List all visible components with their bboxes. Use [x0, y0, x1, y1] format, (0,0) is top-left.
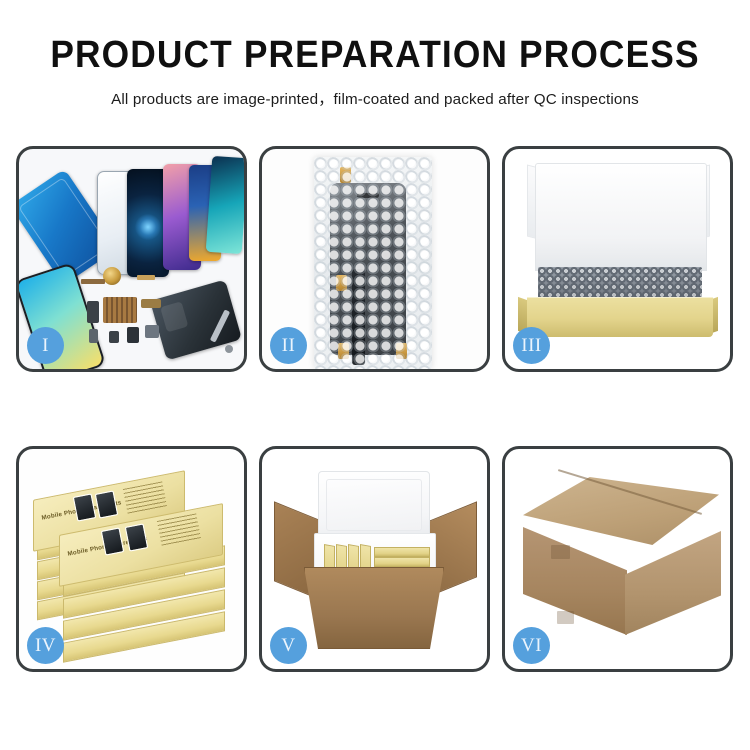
wrapped-flex-cable	[352, 269, 365, 365]
carton-tab-lower	[557, 611, 574, 624]
carton-face-right	[625, 531, 721, 635]
carton-tab-upper	[551, 545, 570, 559]
process-step-5[interactable]: V	[259, 446, 490, 672]
page-title: PRODUCT PREPARATION PROCESS	[26, 36, 724, 76]
carton-face-left	[523, 527, 627, 635]
step-badge-5: V	[270, 627, 307, 664]
step-badge-3: III	[513, 327, 550, 364]
box-lid-back	[535, 163, 707, 271]
process-step-2[interactable]: II	[259, 146, 490, 372]
bubble-wrap-bag	[314, 157, 432, 369]
gold-tab-bottom-right	[396, 343, 407, 359]
carton-body	[304, 567, 444, 649]
phone-display-teal	[206, 156, 244, 254]
page-header: PRODUCT PREPARATION PROCESS All products…	[0, 0, 750, 109]
gold-tab-bottom-left	[338, 343, 349, 359]
gold-tab-top	[340, 167, 351, 183]
flex-cable-1	[87, 301, 99, 323]
foam-box-lid	[318, 471, 430, 539]
process-step-4[interactable]: Mobile Phone Spare Parts Mobile Phone Sp…	[16, 446, 247, 672]
process-step-3[interactable]: III	[502, 146, 733, 372]
small-part-3	[89, 329, 98, 343]
wrapped-screen	[330, 183, 406, 355]
page-subtitle: All products are image-printed，film-coat…	[0, 87, 750, 109]
process-step-grid: I II III	[16, 146, 734, 672]
product-box-h2	[374, 557, 430, 567]
step-badge-4: IV	[27, 627, 64, 664]
process-step-6[interactable]: VI	[502, 446, 733, 672]
logic-board-chip	[103, 297, 137, 323]
gold-tab-mid	[336, 275, 347, 291]
small-part-2	[137, 275, 155, 280]
speaker-component	[103, 267, 121, 285]
flex-cable-2	[141, 299, 161, 308]
bubble-wrap-lining	[538, 267, 702, 301]
small-part-1	[81, 279, 105, 284]
small-part-5	[127, 327, 139, 343]
screw-part	[225, 345, 233, 353]
small-part-4	[109, 331, 119, 343]
step-badge-2: II	[270, 327, 307, 364]
step-badge-6: VI	[513, 627, 550, 664]
yellow-box-tray	[527, 297, 713, 337]
step-badge-1: I	[27, 327, 64, 364]
small-part-6	[145, 325, 159, 338]
product-box-h1	[374, 547, 430, 557]
process-step-1[interactable]: I	[16, 146, 247, 372]
